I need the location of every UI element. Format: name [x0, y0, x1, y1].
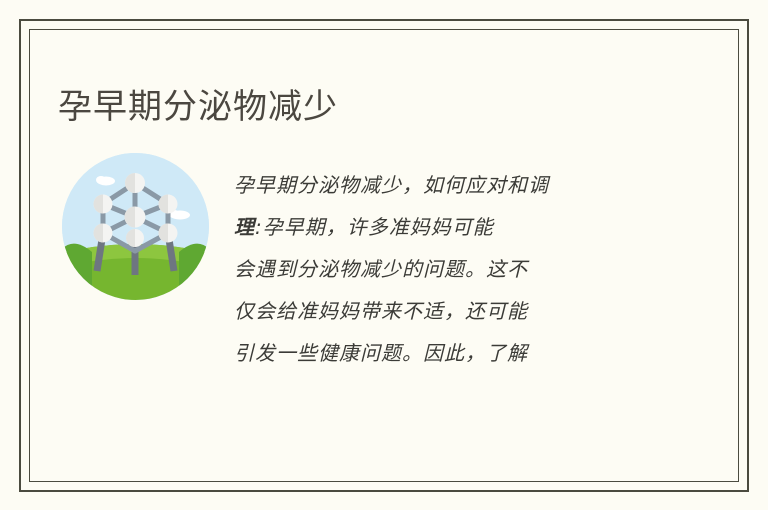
illustration-container [62, 153, 209, 300]
article-line: 孕早期分泌物减少，如何应对和调 [234, 164, 686, 206]
article-line-text: 孕早期分泌物减少，如何应对和调 [234, 173, 549, 197]
article-line: 仅会给准妈妈带来不适，还可能 [234, 290, 686, 332]
article-text: 孕早期分泌物减少，如何应对和调 理:孕早期，许多准妈妈可能 会遇到分泌物减少的问… [234, 164, 686, 374]
article-line: 会遇到分泌物减少的问题。这不 [234, 248, 686, 290]
article-line-text: 引发一些健康问题。因此，了解 [234, 341, 528, 365]
article-line-text: 会遇到分泌物减少的问题。这不 [234, 257, 528, 281]
page-title: 孕早期分泌物减少 [58, 85, 338, 129]
atomium-illustration-svg [62, 153, 209, 300]
article-line-text: :孕早期，许多准妈妈可能 [255, 215, 494, 239]
hill-right [179, 244, 209, 300]
article-page: 孕早期分泌物减少 [0, 0, 768, 510]
hill-left [62, 244, 92, 300]
article-content: 孕早期分泌物减少，如何应对和调 理:孕早期，许多准妈妈可能 会遇到分泌物减少的问… [0, 150, 768, 400]
atomium-landmark-icon [62, 153, 209, 300]
article-line-text: 仅会给准妈妈带来不适，还可能 [234, 299, 528, 323]
article-line-lead: 理 [234, 215, 255, 239]
article-line: 理:孕早期，许多准妈妈可能 [234, 206, 686, 248]
article-line: 引发一些健康问题。因此，了解 [234, 332, 686, 374]
